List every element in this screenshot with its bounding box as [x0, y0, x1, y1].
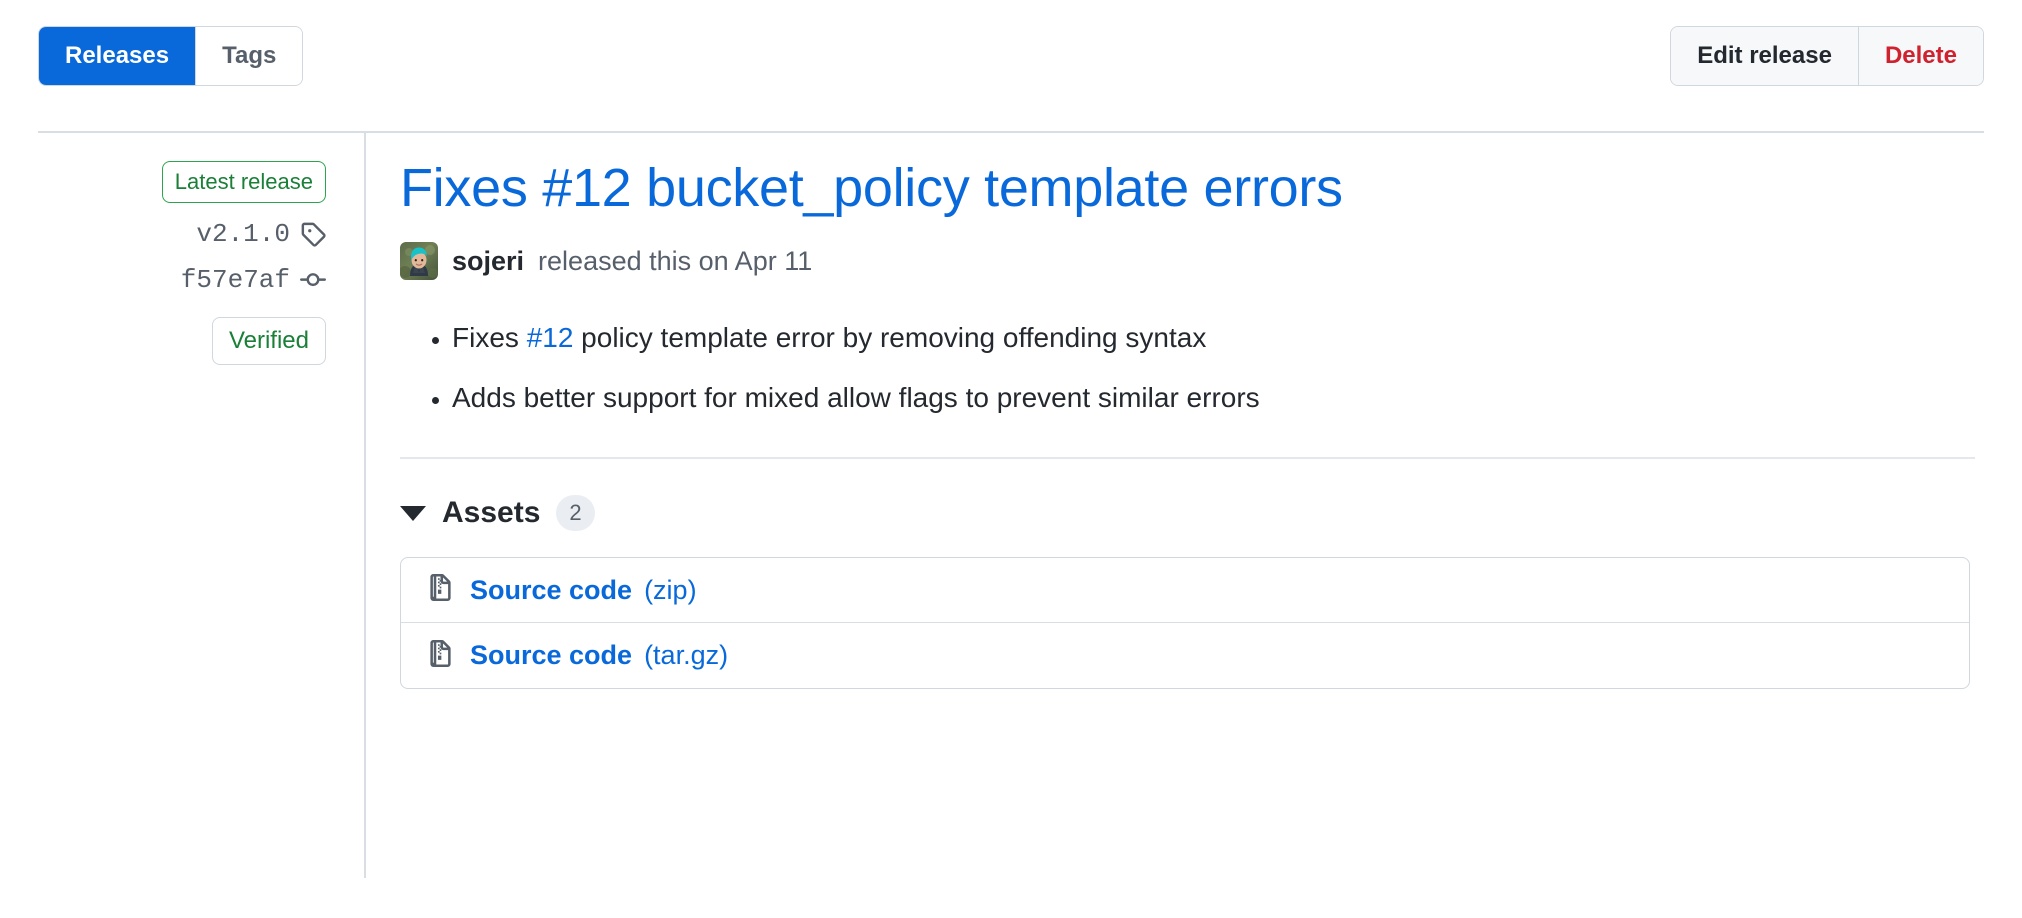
issue-link[interactable]: #12	[527, 322, 574, 353]
assets-count-badge: 2	[556, 495, 594, 531]
release-main: Fixes #12 bucket_policy template errors	[400, 133, 1975, 689]
asset-extension: (zip)	[644, 575, 697, 606]
release-byline: sojeri released this on Apr 11	[400, 242, 1975, 280]
tag-icon	[300, 221, 326, 247]
tag-label: v2.1.0	[196, 219, 290, 249]
note-text-after: policy template error by removing offend…	[573, 322, 1206, 353]
avatar[interactable]	[400, 242, 438, 280]
release-body: Latest release v2.1.0 f57e7af Verified	[0, 133, 2022, 918]
edit-release-button[interactable]: Edit release	[1671, 27, 1859, 85]
asset-name: Source code	[470, 640, 632, 671]
release-page: Releases Tags Edit release Delete Latest…	[0, 0, 2022, 918]
release-actions: Edit release Delete	[1670, 26, 1984, 86]
verified-badge[interactable]: Verified	[212, 317, 326, 365]
release-tag-row[interactable]: v2.1.0	[38, 219, 326, 249]
asset-row-targz[interactable]: Source code (tar.gz)	[401, 623, 1969, 688]
release-sidebar: Latest release v2.1.0 f57e7af Verified	[38, 133, 366, 878]
commit-icon	[300, 267, 326, 293]
release-notes: Fixes #12 policy template error by remov…	[400, 316, 1975, 419]
note-text-before: Fixes	[452, 322, 527, 353]
commit-sha-label: f57e7af	[181, 265, 290, 295]
section-divider	[400, 457, 1975, 459]
assets-toggle[interactable]: Assets 2	[400, 495, 595, 531]
assets-list: Source code (zip) Source code (tar.gz)	[400, 557, 1970, 689]
assets-title: Assets	[442, 496, 540, 530]
file-zip-icon	[427, 574, 454, 606]
list-item: Fixes #12 policy template error by remov…	[452, 316, 1975, 359]
tab-tags[interactable]: Tags	[196, 27, 302, 85]
release-toolbar: Releases Tags Edit release Delete	[38, 0, 1984, 133]
chevron-down-icon	[400, 506, 426, 521]
file-zip-icon	[427, 640, 454, 672]
release-commit-row[interactable]: f57e7af	[38, 265, 326, 295]
list-item: Adds better support for mixed allow flag…	[452, 376, 1975, 419]
note-text-before: Adds better support for mixed allow flag…	[452, 382, 1260, 413]
asset-name: Source code	[470, 575, 632, 606]
asset-row-zip[interactable]: Source code (zip)	[401, 558, 1969, 623]
tab-releases[interactable]: Releases	[39, 27, 196, 85]
delete-release-button[interactable]: Delete	[1859, 27, 1983, 85]
release-title[interactable]: Fixes #12 bucket_policy template errors	[400, 159, 1975, 218]
latest-release-badge: Latest release	[162, 161, 326, 203]
asset-extension: (tar.gz)	[644, 640, 728, 671]
releases-tags-toggle: Releases Tags	[38, 26, 303, 86]
release-byline-suffix: released this on Apr 11	[538, 246, 812, 277]
release-author[interactable]: sojeri	[452, 246, 524, 277]
